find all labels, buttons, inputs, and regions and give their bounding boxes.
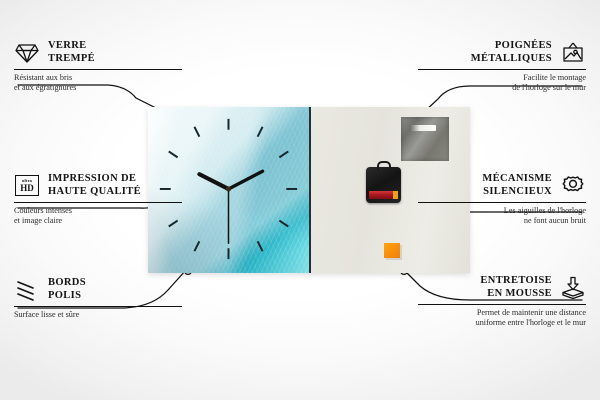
feature-header: BORDS POLIS [14,277,182,303]
feature-divider [418,69,586,70]
feature-title: BORDS POLIS [48,277,86,303]
hour-hand [199,174,228,189]
clock-mechanism [366,167,401,203]
feature-header: VERRE TREMPÉ [14,40,182,66]
battery-terminal [393,191,398,199]
foam-spacer-icon [560,276,586,300]
feature-header: POIGNÉES MÉTALLIQUES [418,40,586,66]
feature-header: MÉCANISME SILENCIEUX [418,173,586,199]
polished-edges-icon [14,278,40,302]
infographic-canvas: VERRE TREMPÉ Résistant aux bris et aux é… [0,0,600,400]
gear-icon [560,174,586,198]
feature-poignees-metalliques: POIGNÉES MÉTALLIQUES Facilite le montage… [418,40,586,94]
diamond-icon [14,41,40,65]
feature-description: Permet de maintenir une distance uniform… [418,308,586,330]
metal-hanger-plate [401,117,449,161]
feature-divider [418,304,586,305]
feature-title: MÉCANISME SILENCIEUX [482,173,552,199]
feature-title: VERRE TREMPÉ [48,40,95,66]
ultra-hd-main-label: HD [20,184,34,193]
feature-description: Facilite le montage de l'horloge sur le … [418,73,586,95]
hand-hub [226,186,231,191]
hanger-slot [410,125,436,131]
feature-header: ultra HD IMPRESSION DE HAUTE QUALITÉ [14,173,182,199]
feature-entretoise-en-mousse: ENTRETOISE EN MOUSSE Permet de maintenir… [418,275,586,329]
feature-title: IMPRESSION DE HAUTE QUALITÉ [48,173,141,199]
feature-header: ENTRETOISE EN MOUSSE [418,275,586,301]
feature-description: Les aiguilles de l'horloge ne font aucun… [418,206,586,228]
feature-divider [14,306,182,307]
feature-description: Résistant aux bris et aux égratignures [14,73,182,95]
minute-hand [228,171,262,189]
feature-impression-haute-qualite: ultra HD IMPRESSION DE HAUTE QUALITÉ Cou… [14,173,182,227]
ultra-hd-icon: ultra HD [14,174,40,198]
foam-spacer-pad [384,243,400,258]
mechanism-hanging-loop [377,161,391,170]
feature-description: Couleurs intenses et image claire [14,206,182,228]
feature-title: ENTRETOISE EN MOUSSE [480,275,552,301]
feature-divider [14,69,182,70]
feature-bords-polis: BORDS POLIS Surface lisse et sûre [14,277,182,320]
hanging-frame-icon [560,41,586,65]
feature-divider [418,202,586,203]
feature-divider [14,202,182,203]
feature-verre-trempe: VERRE TREMPÉ Résistant aux bris et aux é… [14,40,182,94]
feature-description: Surface lisse et sûre [14,310,182,321]
battery [369,191,398,199]
feature-title: POIGNÉES MÉTALLIQUES [471,40,552,66]
feature-mecanisme-silencieux: MÉCANISME SILENCIEUX Les aiguilles de l'… [418,173,586,227]
